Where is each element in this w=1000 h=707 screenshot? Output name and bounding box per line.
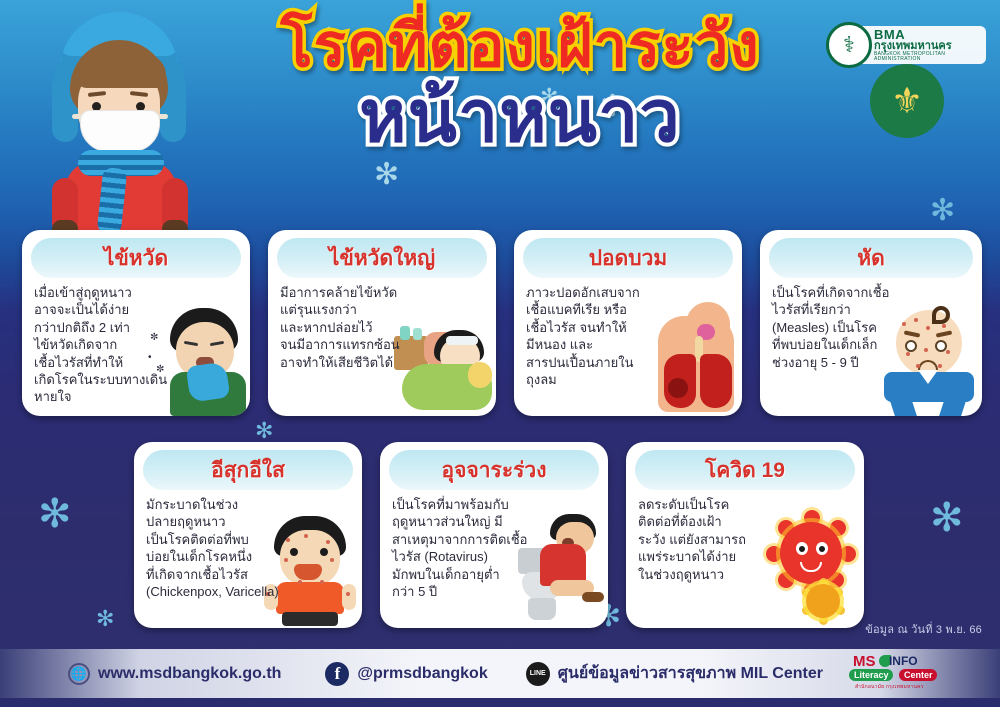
logo-center-tag: Center: [899, 669, 938, 681]
facebook-icon: f: [325, 662, 349, 686]
facebook-link[interactable]: f @prmsdbangkok: [325, 662, 487, 686]
card-body: เป็นโรคที่มาพร้อมกับ ฤดูหนาวส่วนใหญ่ มี …: [380, 490, 608, 628]
card-header: หัด: [769, 238, 973, 278]
coronavirus-icon: [762, 514, 860, 626]
card-body: ภาวะปอดอักเสบจาก เชื้อแบคทีเรีย หรือ เชื…: [514, 278, 742, 416]
poster-title: โรคที่ต้องเฝ้าระวัง หน้าหนาว: [210, 14, 830, 153]
logo-sub-text: สำนักอนามัย กรุงเทพมหานคร: [855, 683, 924, 691]
website-label: www.msdbangkok.go.th: [98, 665, 281, 683]
line-label: ศูนย์ข้อมูลข่าวสารสุขภาพ MIL Center: [558, 661, 823, 686]
disease-card-pneumonia[interactable]: ปอดบวม ภาวะปอดอักเสบจาก เชื้อแบคทีเรีย ห…: [514, 230, 742, 416]
card-description: เมื่อเข้าสู่ฤดูหนาว อาจจะเป็นได้ง่าย กว่…: [34, 284, 179, 406]
card-title: หัด: [857, 242, 884, 275]
line-icon: LINE: [526, 662, 550, 686]
card-description: มักระบาดในช่วง ปลายฤดูหนาว เป็นโรคติดต่อ…: [146, 496, 306, 600]
logo-ms-text: MS: [853, 653, 876, 670]
snowflake-icon: ✻: [374, 160, 399, 190]
bma-logo-en: BMA: [874, 28, 986, 41]
boy-with-mask-illustration: [18, 10, 218, 235]
data-date-note: ข้อมูล ณ วันที่ 3 พ.ย. 66: [865, 620, 982, 638]
card-title: ไข้หวัด: [104, 242, 168, 275]
card-description: เป็นโรคที่เกิดจากเชื้อ ไวรัสที่เรียกว่า …: [772, 284, 920, 371]
bma-deity-icon: ⚜: [870, 64, 944, 138]
website-link[interactable]: 🌐 www.msdbangkok.go.th: [68, 663, 281, 685]
footer-bar: 🌐 www.msdbangkok.go.th f @prmsdbangkok L…: [0, 649, 1000, 707]
card-body: มีอาการคล้ายไข้หวัด แต่รุนแรงกว่า และหาก…: [268, 278, 496, 416]
line-link[interactable]: LINE ศูนย์ข้อมูลข่าวสารสุขภาพ MIL Center: [526, 661, 823, 686]
globe-icon: 🌐: [68, 663, 90, 685]
title-line-1: โรคที่ต้องเฝ้าระวัง: [210, 14, 830, 77]
card-body: ลดระดับเป็นโรค ติดต่อที่ต้องเฝ้า ระวัง แ…: [626, 490, 864, 628]
card-header: อีสุกอีใส: [143, 450, 353, 490]
card-description: ลดระดับเป็นโรค ติดต่อที่ต้องเฝ้า ระวัง แ…: [638, 496, 768, 583]
card-header: ไข้หวัดใหญ่: [277, 238, 487, 278]
disease-card-measles[interactable]: หัด เป็นโรคที่เกิดจากเชื้อ ไวรัสที่เรียก…: [760, 230, 982, 416]
logo-literacy-tag: Literacy: [849, 669, 894, 681]
snowflake-icon: ✻: [96, 608, 114, 630]
title-line-2: หน้าหนาว: [210, 81, 830, 153]
snowflake-icon: ✻: [930, 498, 964, 538]
facebook-label: @prmsdbangkok: [357, 665, 487, 683]
card-body: เมื่อเข้าสู่ฤดูหนาว อาจจะเป็นได้ง่าย กว่…: [22, 278, 250, 416]
bma-logo-sub: BANGKOK METROPOLITAN ADMINISTRATION: [874, 52, 986, 62]
disease-card-diarrhea[interactable]: อุจจาระร่วง เป็นโรคที่มาพร้อมกับ ฤดูหนาว…: [380, 442, 608, 628]
snowflake-icon: ✻: [930, 196, 955, 226]
bma-logo: ✻ BMA กรุงเทพมหานคร BANGKOK METROPOLITAN…: [826, 14, 986, 134]
card-header: โควิด 19: [635, 450, 855, 490]
disease-card-cold[interactable]: ไข้หวัด เมื่อเข้าสู่ฤดูหนาว อาจจะเป็นได้…: [22, 230, 250, 416]
card-header: ปอดบวม: [523, 238, 733, 278]
card-header: อุจจาระร่วง: [389, 450, 599, 490]
card-title: อีสุกอีใส: [211, 454, 285, 487]
card-title: ปอดบวม: [589, 242, 668, 275]
card-description: เป็นโรคที่มาพร้อมกับ ฤดูหนาวส่วนใหญ่ มี …: [392, 496, 552, 600]
card-title: อุจจาระร่วง: [442, 454, 547, 487]
disease-card-influenza[interactable]: ไข้หวัดใหญ่ มีอาการคล้ายไข้หวัด แต่รุนแร…: [268, 230, 496, 416]
logo-info-text: INFO: [889, 654, 918, 668]
snowflake-icon: ✻: [255, 420, 273, 442]
face-mask-icon: [80, 110, 160, 152]
card-title: โควิด 19: [705, 454, 785, 487]
disease-card-covid19[interactable]: โควิด 19 ลดระดับเป็นโรค ติดต่อที่ต้องเฝ้…: [626, 442, 864, 628]
snowflake-icon: ✻: [38, 494, 72, 534]
card-title: ไข้หวัดใหญ่: [329, 242, 435, 275]
disease-card-chickenpox[interactable]: อีสุกอีใส มักระบาดในช่วง ปลายฤดูหนาว เป็…: [134, 442, 362, 628]
card-header: ไข้หวัด: [31, 238, 241, 278]
bma-seal-icon: ⚕: [826, 22, 872, 68]
poster-canvas: ✻ ✻ ✻ ✻ ✻ ✻ ✻ ✻ ✻ ✻ ✻ ✻ ✻ BMA กรุงเทพมหา…: [0, 0, 1000, 707]
card-body: มักระบาดในช่วง ปลายฤดูหนาว เป็นโรคติดต่อ…: [134, 490, 362, 628]
card-description: มีอาการคล้ายไข้หวัด แต่รุนแรงกว่า และหาก…: [280, 284, 425, 371]
msd-info-literacy-center-logo: MS INFO Literacy Center สำนักอนามัย กรุง…: [849, 653, 941, 695]
card-body: เป็นโรคที่เกิดจากเชื้อ ไวรัสที่เรียกว่า …: [760, 278, 982, 416]
card-description: ภาวะปอดอักเสบจาก เชื้อแบคทีเรีย หรือ เชื…: [526, 284, 671, 388]
